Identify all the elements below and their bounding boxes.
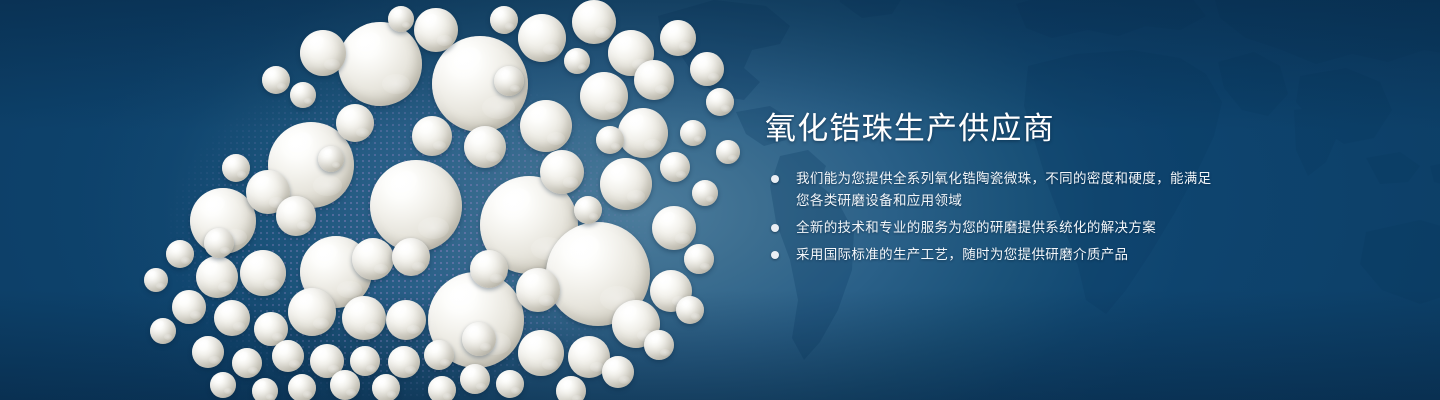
list-item: 全新的技术和专业的服务为您的研磨提供系统化的解决方案 xyxy=(765,217,1225,239)
list-item: 我们能为您提供全系列氧化锆陶瓷微珠，不同的密度和硬度，能满足您各类研磨设备和应用… xyxy=(765,168,1225,212)
banner-text-column: 氧化锆珠生产供应商 我们能为您提供全系列氧化锆陶瓷微珠，不同的密度和硬度，能满足… xyxy=(762,0,1362,400)
list-item: 采用国际标准的生产工艺，随时为您提供研磨介质产品 xyxy=(765,244,1225,266)
list-item-label: 全新的技术和专业的服务为您的研磨提供系统化的解决方案 xyxy=(796,217,1225,239)
feature-list: 我们能为您提供全系列氧化锆陶瓷微珠，不同的密度和硬度，能满足您各类研磨设备和应用… xyxy=(765,168,1225,271)
list-item-label: 采用国际标准的生产工艺，随时为您提供研磨介质产品 xyxy=(796,244,1225,266)
page-title: 氧化锆珠生产供应商 xyxy=(765,110,1055,148)
bullet-dot-icon xyxy=(771,224,779,232)
zirconia-bead-cluster xyxy=(0,0,760,400)
product-hero-banner: 氧化锆珠生产供应商 我们能为您提供全系列氧化锆陶瓷微珠，不同的密度和硬度，能满足… xyxy=(0,0,1440,400)
bullet-dot-icon xyxy=(771,175,779,183)
list-item-label: 我们能为您提供全系列氧化锆陶瓷微珠，不同的密度和硬度，能满足您各类研磨设备和应用… xyxy=(796,168,1225,212)
bullet-dot-icon xyxy=(771,251,779,259)
